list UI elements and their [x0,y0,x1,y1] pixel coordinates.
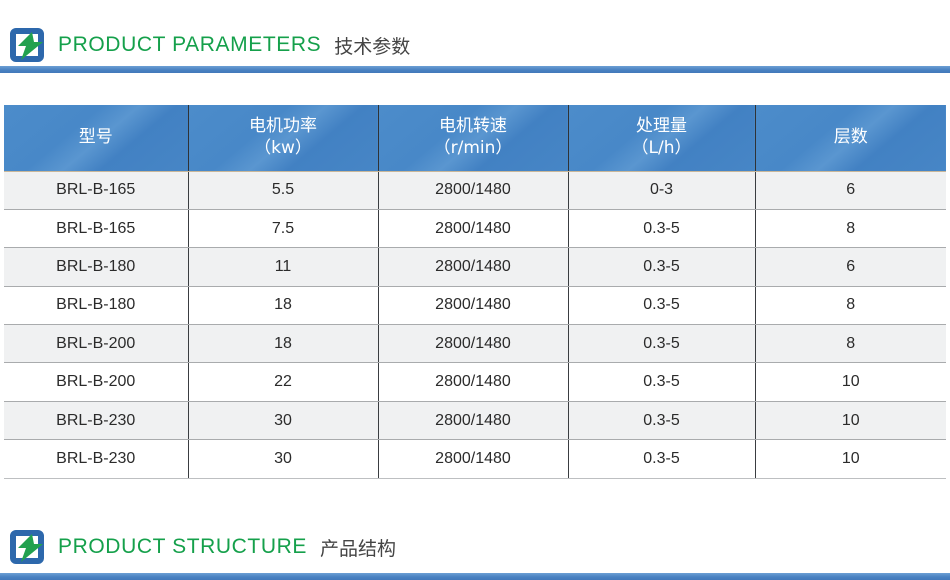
cell-capacity: 0.3-5 [568,286,755,324]
cell-layers: 6 [755,248,946,286]
cell-motor-speed: 2800/1480 [378,209,568,247]
column-header-motor-speed-line1: 电机转速 [439,116,507,136]
heading-divider-top [0,66,950,73]
logo-bolt-icon [10,28,44,62]
column-header-layers-line1: 层数 [834,127,868,147]
section-heading-product-parameters: PRODUCT PARAMETERS 技术参数 [0,20,950,70]
cell-layers: 8 [755,325,946,363]
section-title-cn: 产品结构 [320,534,396,561]
column-header-motor-power-line1: 电机功率 [249,116,317,136]
section-title-cn: 技术参数 [334,32,410,59]
column-header-layers: 层数 [755,105,946,171]
column-header-capacity-line1: 处理量 [636,116,687,136]
section-title-en: PRODUCT PARAMETERS [58,33,321,57]
cell-layers: 6 [755,171,946,209]
spec-table-container: 型号 电机功率 （kw） 电机转速 （r/min） 处理量 （L/h） [4,105,946,479]
spec-table: 型号 电机功率 （kw） 电机转速 （r/min） 处理量 （L/h） [4,105,946,479]
section-title-en: PRODUCT STRUCTURE [58,535,307,559]
spec-table-body: BRL-B-1655.52800/14800-36BRL-B-1657.5280… [4,171,946,478]
heading-divider-bottom [0,573,950,580]
table-row: BRL-B-180182800/14800.3-58 [4,286,946,324]
section-heading-product-structure: PRODUCT STRUCTURE 产品结构 [0,522,950,572]
cell-motor-power: 18 [188,325,378,363]
table-row: BRL-B-200182800/14800.3-58 [4,325,946,363]
cell-motor-power: 22 [188,363,378,401]
column-header-motor-speed: 电机转速 （r/min） [378,105,568,171]
cell-motor-power: 18 [188,286,378,324]
cell-model: BRL-B-200 [4,325,188,363]
cell-capacity: 0.3-5 [568,325,755,363]
cell-capacity: 0.3-5 [568,440,755,478]
cell-motor-power: 7.5 [188,209,378,247]
cell-layers: 10 [755,401,946,439]
header-row: 型号 电机功率 （kw） 电机转速 （r/min） 处理量 （L/h） [4,105,946,171]
table-row: BRL-B-230302800/14800.3-510 [4,440,946,478]
column-header-motor-speed-line2: （r/min） [383,138,564,160]
cell-motor-speed: 2800/1480 [378,171,568,209]
logo-bolt-icon [10,530,44,564]
cell-model: BRL-B-165 [4,171,188,209]
cell-model: BRL-B-200 [4,363,188,401]
column-header-model: 型号 [4,105,188,171]
spec-table-header: 型号 电机功率 （kw） 电机转速 （r/min） 处理量 （L/h） [4,105,946,171]
column-header-motor-power-line2: （kw） [193,138,374,160]
cell-layers: 8 [755,286,946,324]
cell-model: BRL-B-230 [4,401,188,439]
cell-motor-speed: 2800/1480 [378,440,568,478]
cell-motor-power: 30 [188,401,378,439]
cell-motor-power: 11 [188,248,378,286]
cell-motor-speed: 2800/1480 [378,363,568,401]
table-row: BRL-B-180112800/14800.3-56 [4,248,946,286]
column-header-capacity-line2: （L/h） [573,138,751,160]
cell-model: BRL-B-180 [4,286,188,324]
cell-layers: 10 [755,440,946,478]
product-parameters-page: PRODUCT PARAMETERS 技术参数 型号 电机功率 （kw） [0,0,950,580]
table-row: BRL-B-1655.52800/14800-36 [4,171,946,209]
cell-motor-speed: 2800/1480 [378,401,568,439]
table-row: BRL-B-200222800/14800.3-510 [4,363,946,401]
cell-capacity: 0.3-5 [568,248,755,286]
cell-motor-speed: 2800/1480 [378,248,568,286]
cell-motor-speed: 2800/1480 [378,286,568,324]
cell-model: BRL-B-165 [4,209,188,247]
cell-capacity: 0.3-5 [568,363,755,401]
cell-motor-power: 30 [188,440,378,478]
cell-layers: 8 [755,209,946,247]
cell-motor-speed: 2800/1480 [378,325,568,363]
cell-model: BRL-B-230 [4,440,188,478]
column-header-model-line1: 型号 [79,127,113,147]
column-header-capacity: 处理量 （L/h） [568,105,755,171]
cell-motor-power: 5.5 [188,171,378,209]
cell-capacity: 0.3-5 [568,209,755,247]
cell-capacity: 0.3-5 [568,401,755,439]
cell-model: BRL-B-180 [4,248,188,286]
table-row: BRL-B-230302800/14800.3-510 [4,401,946,439]
cell-capacity: 0-3 [568,171,755,209]
table-row: BRL-B-1657.52800/14800.3-58 [4,209,946,247]
cell-layers: 10 [755,363,946,401]
column-header-motor-power: 电机功率 （kw） [188,105,378,171]
